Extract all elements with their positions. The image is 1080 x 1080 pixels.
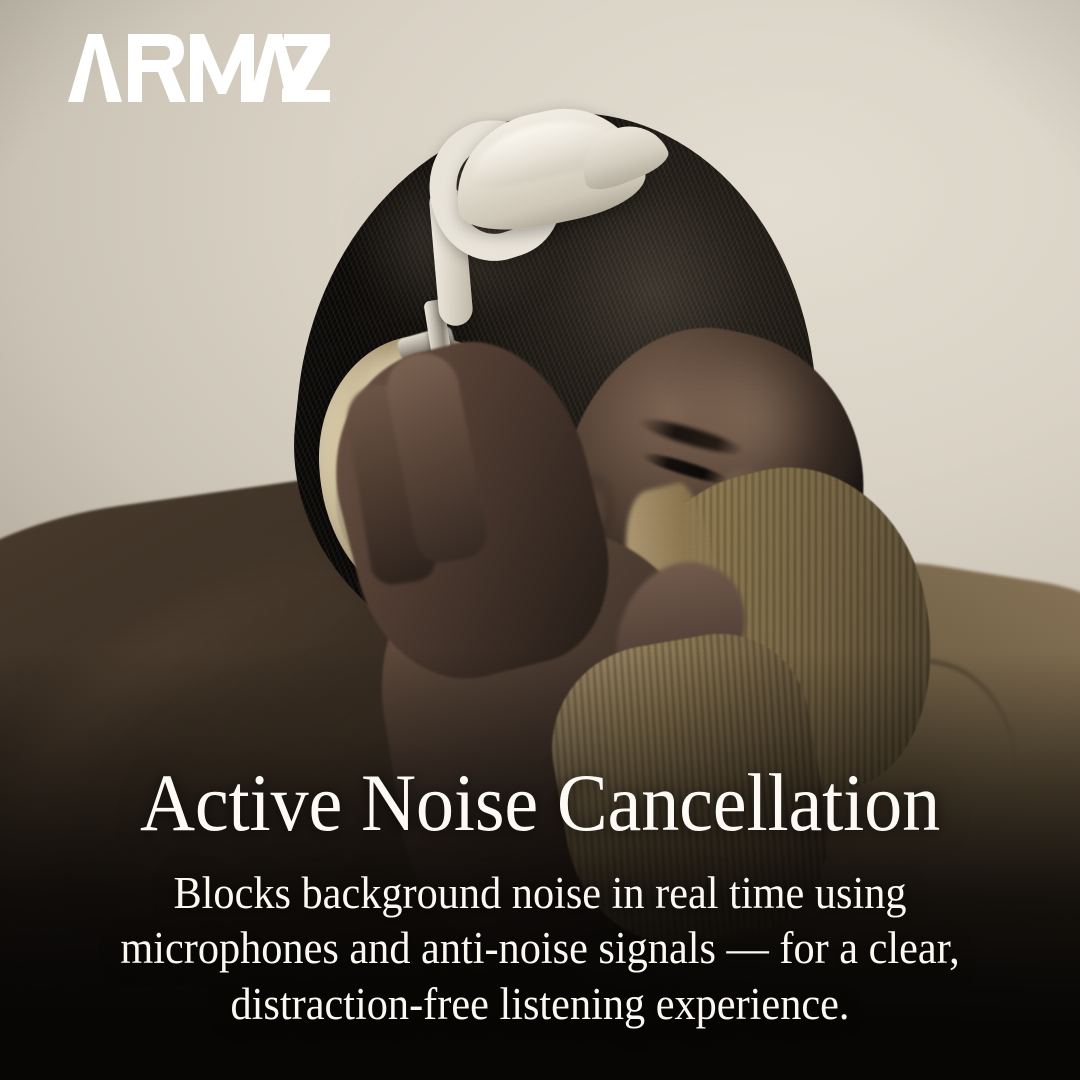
brand-logo[interactable] xyxy=(62,34,330,102)
copy-block: Active Noise Cancellation Blocks backgro… xyxy=(0,762,1080,1032)
product-feature-poster: Active Noise Cancellation Blocks backgro… xyxy=(0,0,1080,1080)
armaz-wordmark-icon xyxy=(62,34,330,102)
feature-description: Blocks background noise in real time usi… xyxy=(89,866,991,1032)
page-title: Active Noise Cancellation xyxy=(69,762,1010,844)
